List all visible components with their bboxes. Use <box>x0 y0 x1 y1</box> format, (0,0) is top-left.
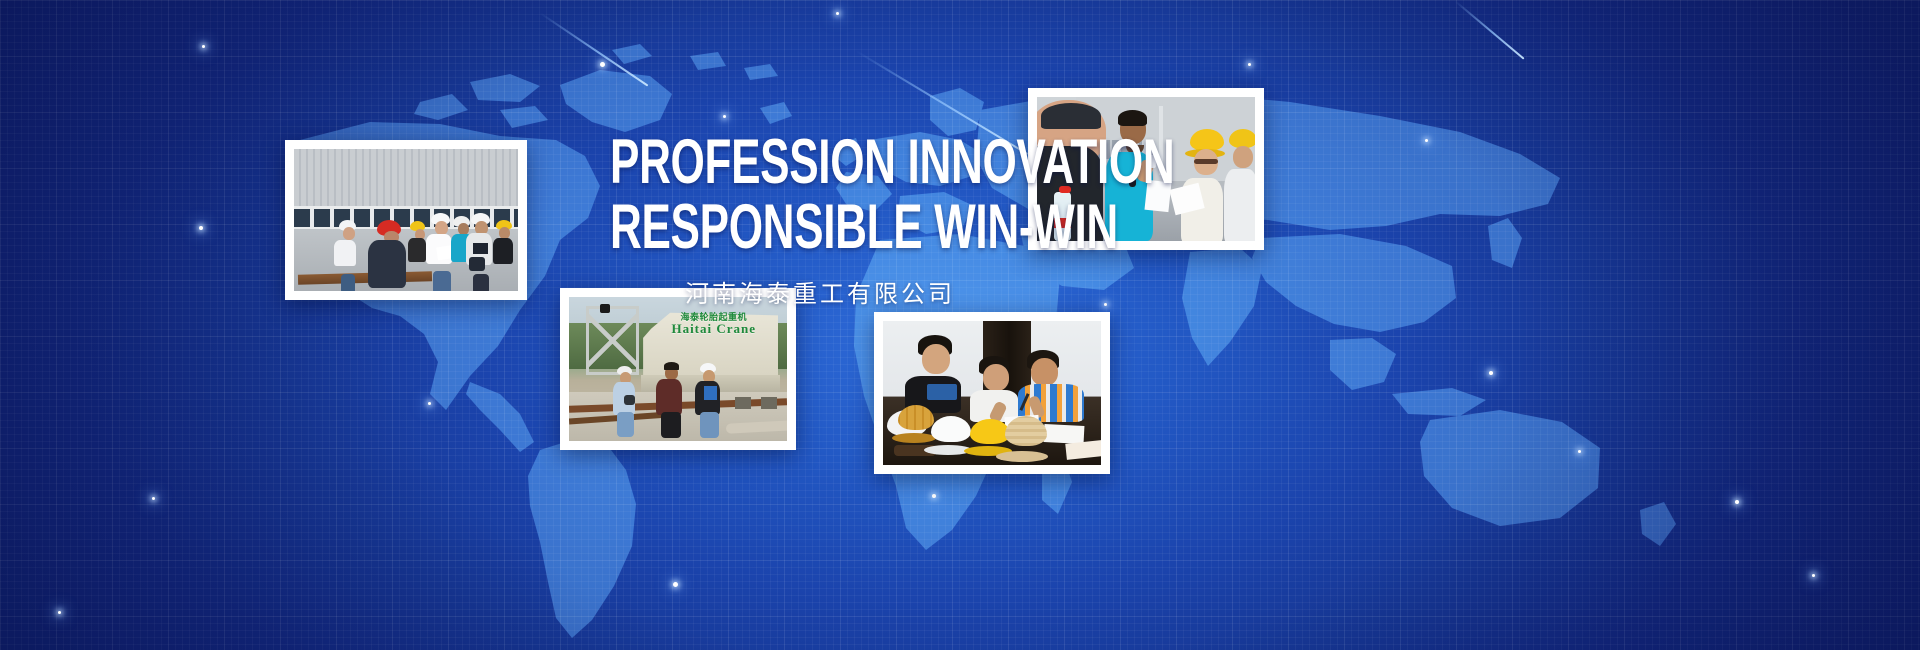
star-dot <box>1812 574 1815 577</box>
photo-contract-signing <box>874 312 1110 474</box>
shooting-star-streak <box>539 12 648 86</box>
photo-factory-visit-image <box>294 149 518 291</box>
star-dot <box>932 494 936 498</box>
star-dot <box>1425 139 1428 142</box>
hero-banner: PROFESSION INNOVATION RESPONSIBLE WIN-WI… <box>0 0 1920 650</box>
star-dot <box>1578 450 1581 453</box>
star-dot <box>1735 500 1739 504</box>
star-dot <box>1489 371 1493 375</box>
star-dot <box>58 611 61 614</box>
star-dot <box>600 62 605 67</box>
crane-label-english: Haitai Crane <box>671 322 756 336</box>
star-dot <box>152 497 155 500</box>
photo-crane-onsite: 海泰轮胎起重机 Haitai Crane <box>560 288 796 450</box>
star-dot <box>673 582 678 587</box>
crane-label: 海泰轮胎起重机 Haitai Crane <box>671 313 756 336</box>
hero-copy: PROFESSION INNOVATION RESPONSIBLE WIN-WI… <box>520 130 1120 309</box>
star-dot <box>199 226 203 230</box>
star-dot <box>836 12 839 15</box>
star-dot <box>723 115 726 118</box>
headline-line-2: RESPONSIBLE WIN-WIN <box>610 195 1030 260</box>
page-title: PROFESSION INNOVATION RESPONSIBLE WIN-WI… <box>610 130 1030 260</box>
star-dot <box>1248 63 1251 66</box>
headline-line-1: PROFESSION INNOVATION <box>610 130 1030 195</box>
photo-crane-onsite-image: 海泰轮胎起重机 Haitai Crane <box>569 297 787 441</box>
photo-factory-visit <box>285 140 527 300</box>
star-dot <box>428 402 431 405</box>
photo-contract-signing-image <box>883 321 1101 465</box>
shooting-star-streak <box>1454 0 1524 59</box>
star-dot <box>202 45 205 48</box>
company-name-subtitle: 河南海泰重工有限公司 <box>520 274 1120 309</box>
